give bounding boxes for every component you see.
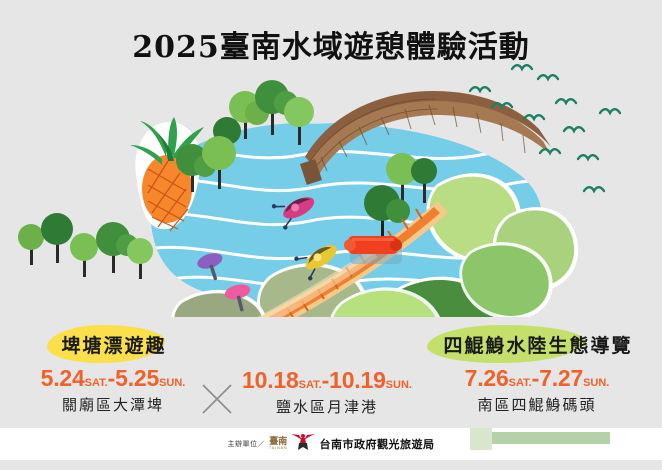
organizer-label: 主辦單位／ [227, 439, 265, 449]
phoenix-mark-icon [290, 431, 316, 458]
footer-bottom-strip [0, 460, 662, 470]
event-1-name: 埤塘漂遊趣 [61, 335, 166, 357]
event-2-separator: - [322, 367, 329, 393]
event-3-date-start: 7.26 [465, 365, 509, 391]
x-cross-icon [200, 382, 234, 416]
event-1-place: 關廟區大潭埤 [18, 394, 208, 415]
event-block-1[interactable]: 埤塘漂遊趣 5.24SAT.-5.25SUN. 關廟區大潭埤 [18, 328, 208, 415]
event-3-separator: - [532, 365, 539, 391]
footer-green-square [470, 428, 492, 450]
event-1-dow-start: SAT. [85, 377, 108, 389]
event-1-date-start: 5.24 [41, 365, 85, 391]
tree-cluster-bottomleft [18, 213, 153, 279]
footer-green-bar [492, 432, 610, 444]
department-name: 台南市政府觀光旅遊局 [320, 436, 435, 452]
event-3-place: 南區四鯤鯓碼頭 [424, 394, 650, 415]
tainan-logo: 臺南 TAINAN [269, 431, 316, 458]
events-row: 埤塘漂遊趣 5.24SAT.-5.25SUN. 關廟區大潭埤 10.18SAT.… [0, 326, 662, 424]
orange-boat [344, 236, 402, 264]
event-3-date-end: 7.27 [539, 365, 583, 391]
event-1-date: 5.24SAT.-5.25SUN. [18, 365, 208, 392]
event-3-name-wrap: 四鯤鯓水陸生態導覽 [431, 328, 642, 361]
event-1-date-end: 5.25 [115, 365, 159, 391]
footer-content: 主辦單位／ 臺南 TAINAN 台南市政府觀光旅遊局 [227, 431, 434, 458]
event-block-2[interactable]: 10.18SAT.-10.19SUN. 鹽水區月津港 [232, 328, 422, 417]
event-1-dow-end: SUN. [159, 377, 185, 389]
event-block-3[interactable]: 四鯤鯓水陸生態導覽 7.26SAT.-7.27SUN. 南區四鯤鯓碼頭 [424, 328, 650, 415]
illustration-scene [0, 55, 662, 315]
event-2-date: 10.18SAT.-10.19SUN. [232, 367, 422, 394]
event-2-dow-end: SUN. [386, 379, 412, 391]
event-2-name-wrap [316, 328, 338, 358]
event-2-date-end: 10.19 [329, 367, 386, 393]
event-3-dow-start: SAT. [509, 377, 532, 389]
event-1-name-wrap: 埤塘漂遊趣 [49, 328, 176, 361]
event-2-dow-start: SAT. [299, 379, 322, 391]
event-2-date-start: 10.18 [242, 367, 299, 393]
tainan-logo-en: TAINAN [269, 447, 288, 451]
poster-canvas: 2025臺南水域遊憩體驗活動 [0, 0, 662, 470]
event-1-separator: - [108, 365, 115, 391]
event-2-place: 鹽水區月津港 [232, 396, 422, 417]
event-3-name: 四鯤鯓水陸生態導覽 [443, 335, 632, 357]
event-3-date: 7.26SAT.-7.27SUN. [424, 365, 650, 392]
event-3-dow-end: SUN. [583, 377, 609, 389]
page-title: 2025臺南水域遊憩體驗活動 [0, 22, 662, 66]
